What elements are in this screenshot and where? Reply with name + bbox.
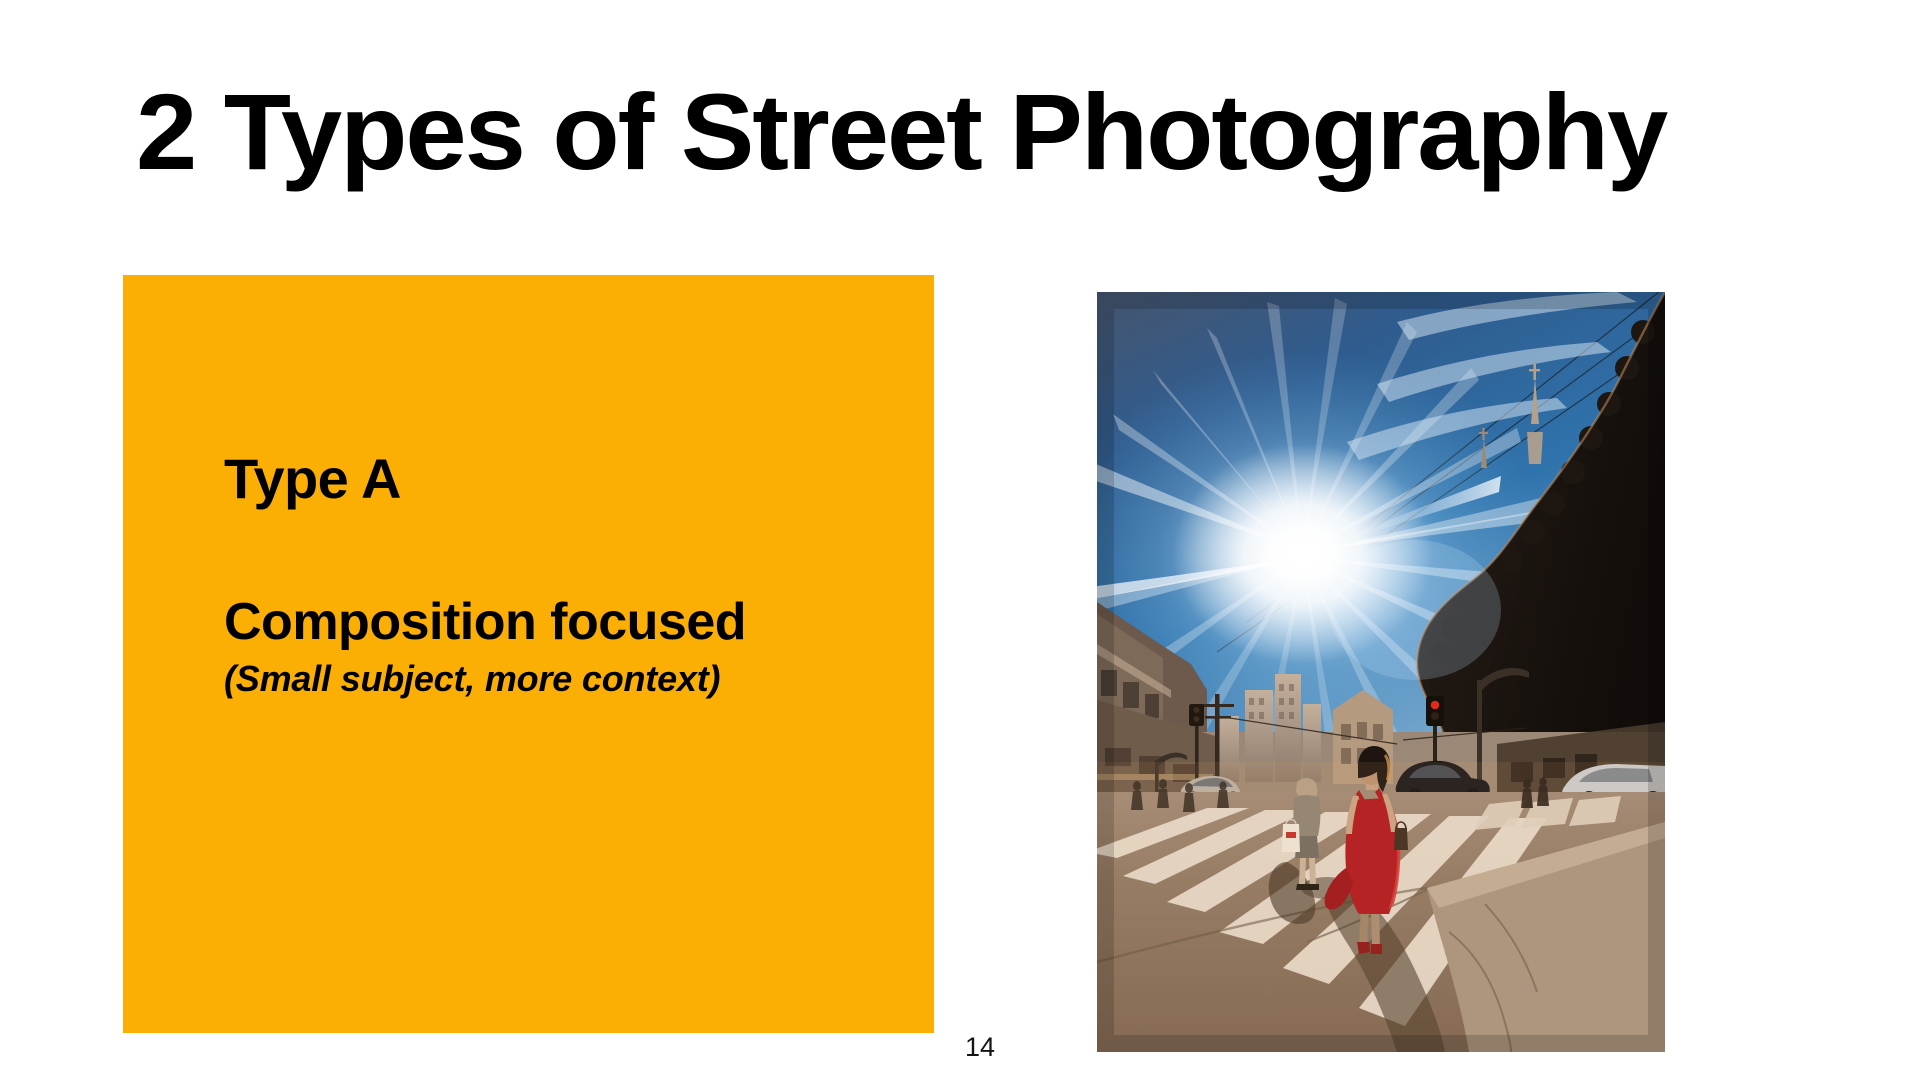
page-number: 14: [950, 1032, 1010, 1063]
slide-canvas: 2 Types of Street Photography Type A Com…: [0, 0, 1920, 1080]
page-title: 2 Types of Street Photography: [136, 78, 1829, 186]
street-photo-image: [1097, 292, 1665, 1052]
type-a-panel-content: Type A Composition focused (Small subjec…: [224, 450, 904, 699]
type-a-description: Composition focused (Small subject, more…: [224, 594, 904, 700]
type-a-description-sub: (Small subject, more context): [224, 658, 904, 699]
street-photo: [1097, 292, 1665, 1052]
type-a-description-main: Composition focused: [224, 594, 904, 650]
type-a-panel: Type A Composition focused (Small subjec…: [123, 275, 934, 1033]
type-a-heading: Type A: [224, 450, 904, 509]
